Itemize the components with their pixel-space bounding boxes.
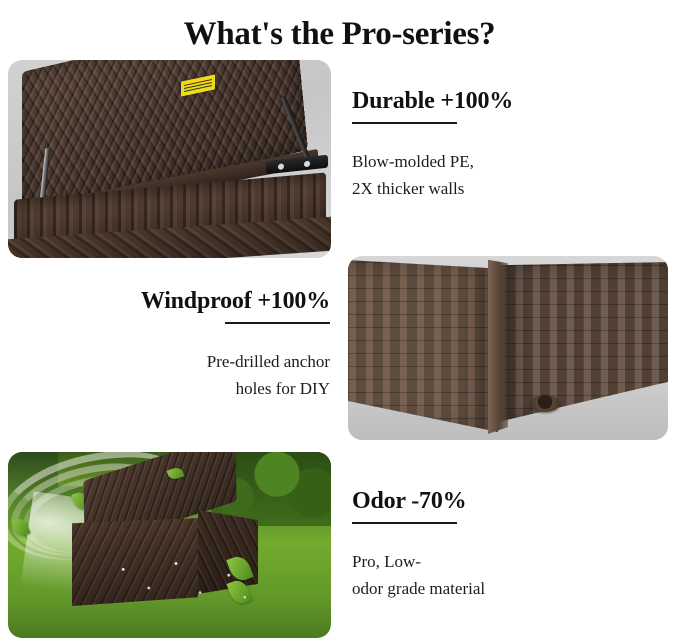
feature-durable-body-line-1: Blow-molded PE, <box>352 148 652 175</box>
feature-windproof-body-line-2: holes for DIY <box>30 375 330 402</box>
feature-odor-underline <box>352 522 457 524</box>
feature-durable-body-line-2: 2X thicker walls <box>352 175 652 202</box>
feature-durable-underline <box>352 122 457 124</box>
feature-durable-heading: Durable +100% <box>352 88 652 115</box>
feature-odor-body-line-2: odor grade material <box>352 575 652 602</box>
feature-windproof-body-line-1: Pre-drilled anchor <box>30 348 330 375</box>
feature-odor: Odor -70% Pro, Low- odor grade material <box>352 488 652 602</box>
deck-box-on-lawn-airflow-photo <box>8 452 331 638</box>
open-deck-box-photo <box>8 60 331 258</box>
feature-durable-body: Blow-molded PE, 2X thicker walls <box>352 148 652 202</box>
feature-durable: Durable +100% Blow-molded PE, 2X thicker… <box>352 88 652 202</box>
lawn-deck-box-front <box>72 518 198 606</box>
lawn-deck-box-side <box>198 510 258 594</box>
corner-edge <box>488 258 508 434</box>
feature-odor-body-line-1: Pro, Low- <box>352 548 652 575</box>
feature-windproof-underline <box>225 322 330 324</box>
anchor-hole <box>530 395 560 412</box>
feature-windproof: Windproof +100% Pre-drilled anchor holes… <box>30 288 330 402</box>
rattan-corner-anchor-hole-photo <box>348 256 668 440</box>
feature-odor-heading: Odor -70% <box>352 488 652 515</box>
page-title: What's the Pro-series? <box>0 16 679 53</box>
feature-odor-body: Pro, Low- odor grade material <box>352 548 652 602</box>
feature-windproof-body: Pre-drilled anchor holes for DIY <box>30 348 330 402</box>
feature-windproof-heading: Windproof +100% <box>30 288 330 315</box>
